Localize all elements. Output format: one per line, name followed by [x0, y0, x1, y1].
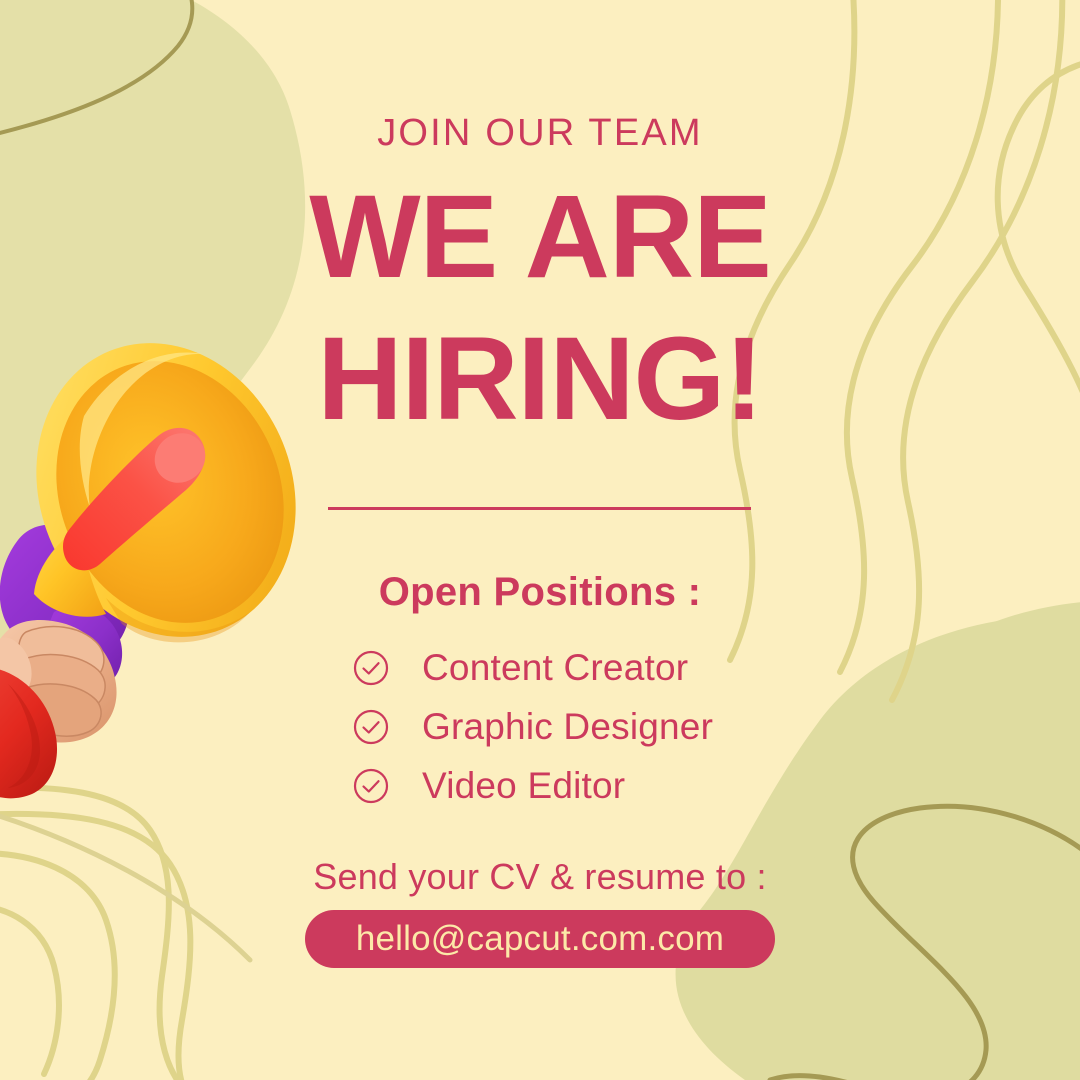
cv-prompt-text: Send your CV & resume to :: [0, 856, 1080, 898]
open-positions-heading: Open Positions :: [0, 570, 1080, 615]
email-address: hello@capcut.com.com: [356, 919, 724, 959]
list-item: Graphic Designer: [352, 697, 852, 756]
list-item: Video Editor: [352, 756, 852, 815]
email-pill-button[interactable]: hello@capcut.com.com: [305, 910, 775, 968]
position-label: Video Editor: [422, 765, 625, 807]
open-positions-list: Content Creator Graphic Designer Video E…: [352, 638, 852, 815]
list-item: Content Creator: [352, 638, 852, 697]
headline-line-1: WE ARE: [0, 178, 1080, 296]
check-circle-icon: [352, 649, 390, 687]
eyebrow-text: JOIN OUR TEAM: [0, 112, 1080, 155]
bottom-left-contour-lines: [0, 787, 206, 1080]
divider-rule: [328, 507, 751, 510]
position-label: Graphic Designer: [422, 706, 713, 748]
headline-line-2: HIRING!: [0, 320, 1080, 438]
position-label: Content Creator: [422, 647, 688, 689]
hiring-poster: JOIN OUR TEAM WE ARE HIRING! Open Positi…: [0, 0, 1080, 1080]
check-circle-icon: [352, 708, 390, 746]
check-circle-icon: [352, 767, 390, 805]
